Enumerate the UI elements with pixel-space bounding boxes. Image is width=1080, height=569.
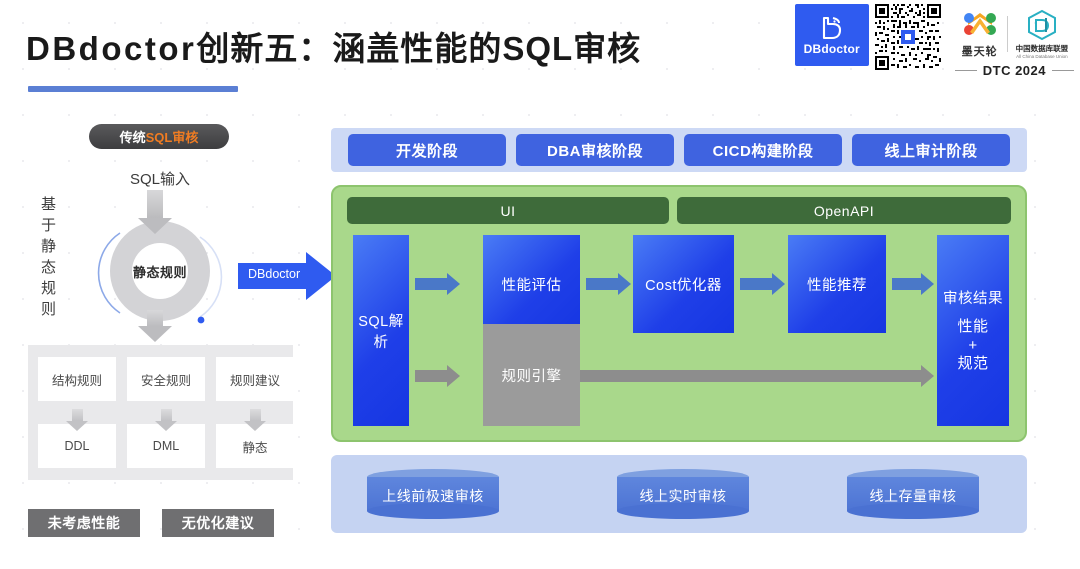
flow-box-audit-result: 审核结果 性能 + 规范 (937, 235, 1009, 426)
flow-box-rule-engine: 规则引擎 (483, 324, 580, 426)
scenario-label: 线上存量审核 (847, 483, 979, 509)
flow-box-performance-recommend: 性能推荐 (788, 235, 886, 333)
flow-arrow (415, 273, 460, 295)
logo-cluster: DBdoctor (795, 4, 1074, 78)
flow-arrow (586, 273, 631, 295)
acdu-logo-text-cn: 中国数据库联盟 (1016, 43, 1069, 54)
interface-bar-ui[interactable]: UI (347, 197, 669, 224)
flow-arrow (740, 273, 785, 295)
page-title: DBdoctor创新五：涵盖性能的SQL审核 (26, 22, 641, 70)
flow-box-label: 规则引擎 (502, 365, 562, 386)
slide-canvas: DBdoctor创新五：涵盖性能的SQL审核 DBdoctor (0, 0, 1080, 569)
modb-mark-icon (961, 8, 999, 42)
flow-box-label: 性能评估 (502, 274, 562, 295)
dbdoctor-logo: DBdoctor (795, 4, 869, 66)
dbdoctor-logo-text: DBdoctor (804, 42, 860, 56)
phase-bar: 开发阶段 DBA审核阶段 CICD构建阶段 线上审计阶段 (331, 128, 1027, 172)
dbdoctor-bird-icon (819, 15, 845, 41)
ring-center-label: 静态规则 (133, 262, 187, 281)
legacy-badge-prefix: 传统 (120, 127, 146, 146)
page-title-latin: DBdoctor (26, 30, 196, 67)
phase-button-online-audit[interactable]: 线上审计阶段 (852, 134, 1010, 166)
dtc-event-label: DTC 2024 (955, 63, 1074, 78)
arrow-down-to-ring (147, 190, 163, 220)
scenario-label: 线上实时审核 (617, 483, 749, 509)
flow-result-subtitle: 性能 + 规范 (957, 318, 988, 374)
logo-divider (1007, 16, 1008, 52)
dbdoctor-transition-label: DBdoctor (248, 267, 300, 281)
scenario-label: 上线前极速审核 (367, 483, 499, 509)
legacy-flaw-badges: 未考虑性能 无优化建议 (28, 509, 274, 537)
flow-arrow (892, 273, 934, 295)
qr-code[interactable] (875, 4, 941, 70)
dbdoctor-transition-arrow: DBdoctor (238, 252, 336, 300)
interface-bar-openapi[interactable]: OpenAPI (677, 197, 1011, 224)
arrow-down-from-ring (147, 310, 163, 328)
legacy-audit-badge: 传统SQL审核 (89, 124, 229, 149)
dtc-event-text: DTC 2024 (983, 63, 1046, 78)
flow-arrow-rule-to-result (580, 365, 934, 387)
modb-logo: 墨天轮 (961, 8, 999, 59)
ring-center: 静态规则 (132, 243, 188, 299)
title-underline (28, 86, 238, 92)
phase-button-cicd[interactable]: CICD构建阶段 (684, 134, 842, 166)
flaw-badge: 未考虑性能 (28, 509, 140, 537)
flow-arrow-rule-engine (415, 365, 460, 387)
phase-button-dba-review[interactable]: DBA审核阶段 (516, 134, 674, 166)
phase-button-dev[interactable]: 开发阶段 (348, 134, 506, 166)
flow-result-title: 审核结果 (943, 287, 1003, 308)
modb-logo-text: 墨天轮 (962, 43, 998, 59)
acdu-cube-icon (1025, 8, 1059, 42)
conference-logos: 墨天轮 中国数据库联盟 All China Database Union DTC… (947, 4, 1074, 78)
legacy-badge-highlight: SQL审核 (146, 127, 199, 146)
flow-box-sql-parse: SQL解析 (353, 235, 409, 426)
rule-arrow-down-icon (72, 409, 83, 422)
scenario-panel: 上线前极速审核 线上实时审核 线上存量审核 (331, 455, 1027, 533)
static-rule-vertical-label: 基于静态规则 (40, 196, 55, 322)
flow-result-sub-line3: 规范 (957, 355, 988, 372)
flaw-badge: 无优化建议 (162, 509, 274, 537)
acdu-logo: 中国数据库联盟 All China Database Union (1016, 8, 1069, 59)
rule-box: 安全规则 (127, 357, 205, 401)
rule-arrow-down-icon (250, 409, 261, 422)
page-title-cn: 创新五：涵盖性能的SQL审核 (196, 30, 641, 67)
dtc-rule-right (1052, 70, 1074, 71)
conference-logo-row: 墨天轮 中国数据库联盟 All China Database Union (961, 8, 1069, 59)
audit-flow-panel: UI OpenAPI SQL解析 性能评估 Cost优化器 性能推荐 (331, 185, 1027, 442)
sql-input-label: SQL输入 (95, 168, 225, 189)
flow-box-label: SQL解析 (353, 310, 409, 352)
flow-result-sub-line1: 性能 (957, 318, 988, 335)
flow-box-performance-assess: 性能评估 (483, 235, 580, 333)
acdu-logo-text-en: All China Database Union (1016, 54, 1068, 59)
legacy-rule-arrows (28, 409, 293, 435)
scenario-cylinder-pre-release[interactable]: 上线前极速审核 (367, 469, 499, 519)
scenario-cylinder-realtime[interactable]: 线上实时审核 (617, 469, 749, 519)
flow-result-sub-line2: + (968, 337, 977, 354)
rule-box: 结构规则 (38, 357, 116, 401)
legacy-rules-row-top: 结构规则 安全规则 规则建议 (38, 357, 294, 401)
flow-box-label: Cost优化器 (645, 274, 722, 295)
dtc-rule-left (955, 70, 977, 71)
scenario-cylinder-existing[interactable]: 线上存量审核 (847, 469, 979, 519)
flow-box-cost-optimizer: Cost优化器 (633, 235, 734, 333)
rule-box: 规则建议 (216, 357, 294, 401)
rule-arrow-down-icon (161, 409, 172, 422)
flow-box-label: 性能推荐 (807, 274, 867, 295)
